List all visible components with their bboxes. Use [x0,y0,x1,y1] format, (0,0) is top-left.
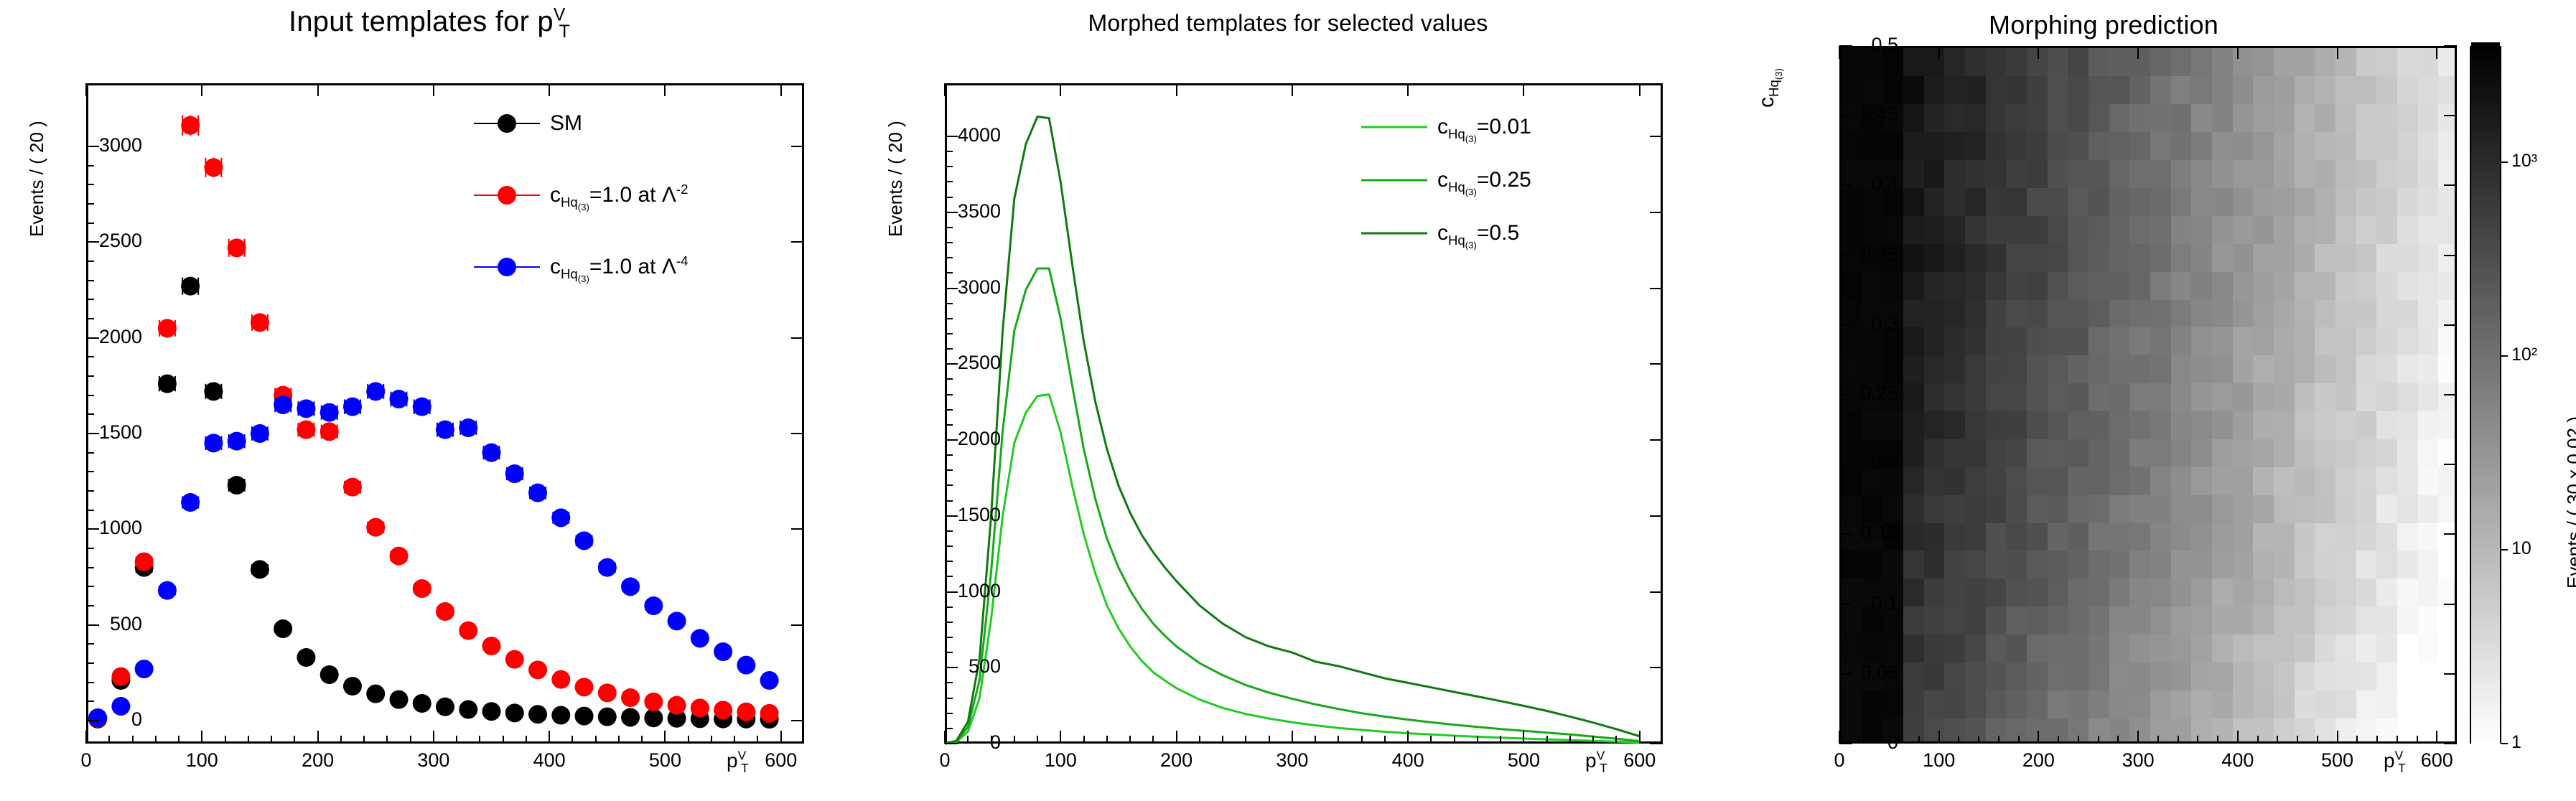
heatmap-cell [2027,299,2048,327]
colorbar-segment [2471,624,2500,630]
colorbar-tick-mark [2501,743,2508,744]
x-minor-tick [2376,736,2378,744]
heatmap-cell [2233,495,2254,523]
x-tick-mark [1292,83,1293,96]
y-tick-label: 0.1 [1798,592,1898,614]
colorbar-segment [2471,299,2500,304]
heatmap-cell [2212,104,2233,132]
x-minor-tick [526,736,527,744]
colorbar-segment [2471,509,2500,515]
heatmap-cell [2295,551,2315,578]
heatmap-cell [2356,299,2377,327]
heatmap-cell [1882,271,1903,299]
heatmap-cell [1986,690,2007,718]
heatmap-cell [1965,160,1986,188]
y-minor-tick [945,713,953,714]
heatmap-cell [1903,132,1924,160]
colorbar-segment [2471,329,2500,334]
heatmap-cell [2418,355,2439,383]
heatmap-cell [2438,355,2455,383]
colorbar-segment [2471,619,2500,625]
heatmap-cell [2295,606,2315,634]
heatmap-cell [1924,215,1945,243]
colorbar-segment [2471,243,2500,249]
heatmap-cell [1924,690,1945,718]
heatmap-cell [2315,48,2335,76]
heatmap-cell [1965,578,1986,606]
heatmap-cell [2418,467,2439,495]
heatmap-cell [2418,215,2439,243]
colorbar-segment [2471,484,2500,489]
colorbar-segment [2471,504,2500,510]
x-minor-tick [641,736,643,744]
y-minor-tick [86,222,94,224]
heatmap-cell [2315,662,2335,690]
heatmap-cell [2109,76,2130,104]
heatmap-cell [1944,662,1965,690]
y-tick-label: 1500 [900,504,1001,526]
x-tick-mark [780,731,782,744]
heatmap-cell [2233,355,2254,383]
heatmap-cell [2233,327,2254,355]
x-tick-mark [944,83,946,96]
heatmap-cell [1986,606,2007,634]
y-minor-tick [86,701,94,702]
colorbar-segment [2471,188,2500,194]
colorbar-segment [2471,554,2500,560]
x-minor-tick [456,736,457,744]
y-tick-mark [791,146,804,147]
heatmap-cell [2171,634,2192,662]
colorbar-segment [2471,434,2500,439]
colorbar-segment [2471,57,2500,63]
x-tick-mark [201,731,202,744]
y-tick-mark [791,528,804,530]
heatmap-cell [2212,606,2233,634]
x-minor-tick [132,736,134,744]
heatmap-cell [2356,187,2377,215]
x-minor-tick [1569,736,1571,744]
heatmap-cell [2418,634,2439,662]
heatmap-cell [2295,411,2315,439]
colorbar-segment [2471,158,2500,164]
legend-marker-chq3-0p01 [1361,118,1427,136]
heatmap-cell [1903,327,1924,355]
heatmap-cell [2397,634,2418,662]
panel-morphing-prediction: Morphing prediction cHq(3) 00.050.10.150… [1717,0,2576,801]
heatmap-cell [2274,606,2295,634]
panel-3-x-axis-title-sub: T [2398,761,2406,775]
heatmap-cell [2397,439,2418,467]
heatmap-cell [2376,48,2397,76]
heatmap-cell [2191,690,2212,718]
legend-item-sm[interactable]: SM [474,111,582,136]
panel-2-legend[interactable]: cHq(3)=0.01 cHq(3)=0.25 cHq(3)=0.5 [1361,115,1663,258]
heatmap-cell [2006,132,2027,160]
heatmap-cell [1924,383,1945,411]
heatmap-cell [2191,383,2212,411]
heatmap-cell [2212,439,2233,467]
colorbar-segment [2471,700,2500,706]
heatmap-cell [2356,355,2377,383]
colorbar-segment [2471,594,2500,600]
heatmap-cell [2315,439,2335,467]
heatmap-cell [2376,662,2397,690]
heatmap-cell [2027,690,2048,718]
legend-item-chq3-lambda-4[interactable]: cHq(3)=1.0 at Λ-4 [474,255,688,279]
heatmap-cell [1944,76,1965,104]
heatmap-cell [2315,187,2335,215]
heatmap-cell [2295,104,2315,132]
y-tick-label: 0.25 [1798,383,1898,405]
heatmap-cell [1924,606,1945,634]
panel-1-title: Input templates for pVT [0,6,859,38]
heatmap-cell [1924,243,1945,271]
heatmap-cell [2315,299,2335,327]
heatmap-cell [2089,495,2109,523]
heatmap-cell [2335,662,2356,690]
x-minor-tick [503,736,504,744]
colorbar-segment [2471,273,2500,279]
x-tick-mark [433,83,434,96]
heatmap-cell [2274,467,2295,495]
heatmap-cell [2233,690,2254,718]
x-tick-label: 400 [2188,749,2288,772]
heatmap-cell [2335,634,2356,662]
heatmap-cell [2438,187,2455,215]
heatmap-cell [1924,327,1945,355]
heatmap-cell [2027,578,2048,606]
colorbar-segment [2471,650,2500,655]
heatmap-cell [2376,634,2397,662]
x-minor-tick [967,736,969,744]
heatmap-cell [2048,523,2068,551]
heatmap-cell [2048,160,2068,188]
heatmap-cell [2191,467,2212,495]
heatmap-cell [2376,383,2397,411]
heatmap-cell [2068,578,2089,606]
heatmap-cell [2109,215,2130,243]
heatmap-cell [2027,132,2048,160]
x-tick-mark [664,83,666,96]
heatmap-cell [1965,48,1986,76]
x-tick-mark [1938,46,1940,59]
heatmap-cell [2027,523,2048,551]
heatmap-cell [2068,215,2089,243]
colorbar-segment [2471,168,2500,174]
heatmap-cell [2397,327,2418,355]
y-minor-tick [86,471,94,472]
heatmap-cell [1965,76,1986,104]
x-minor-tick [2217,736,2218,744]
heatmap-cell [2150,76,2171,104]
x-tick-label: 500 [615,749,715,772]
colorbar-segment [2471,519,2500,525]
heatmap-cell [2233,104,2254,132]
colorbar-tick-label: 10³ [2511,151,2537,172]
y-minor-tick [945,576,953,577]
heatmap-cell [1965,271,1986,299]
heatmap-cell [2315,634,2335,662]
colorbar-segment [2471,404,2500,410]
colorbar-segment [2471,680,2500,685]
y-minor-tick [86,510,94,511]
heatmap-cell [2376,606,2397,634]
heatmap-cell [2315,467,2335,495]
heatmap-cell [1882,495,1903,523]
heatmap-cell [2397,467,2418,495]
legend-item-chq3-0p01[interactable]: cHq(3)=0.01 [1361,115,1531,139]
heatmap-cell [2274,271,2295,299]
x-tick-label: 0 [1789,749,1890,772]
heatmap-cell [2048,271,2068,299]
heatmap-cell [2048,634,2068,662]
x-tick-mark [85,83,87,96]
heatmap-cell [2438,690,2455,718]
heatmap-cell [2233,271,2254,299]
heatmap-cell [2212,690,2233,718]
heatmap-cell [2233,523,2254,551]
x-minor-tick [1083,736,1085,744]
heatmap-cell [1924,578,1945,606]
heatmap-cell [2397,718,2418,741]
heatmap-cell [2212,299,2233,327]
heatmap-cell [2295,299,2315,327]
heatmap-cell [2376,355,2397,383]
heatmap-cell [2253,271,2274,299]
heatmap-cell [2212,662,2233,690]
colorbar-tick-label: 10² [2511,345,2537,365]
legend-item-chq3-lambda-2[interactable]: cHq(3)=1.0 at Λ-2 [474,183,688,207]
heatmap-cell [2418,383,2439,411]
x-tick-label: 200 [1126,749,1227,772]
x-minor-tick [1978,736,1979,744]
y-tick-mark [2444,533,2457,535]
x-minor-tick [1129,736,1131,744]
heatmap-cell [2089,132,2109,160]
heatmap-cell [2438,523,2455,551]
colorbar-segment [2471,660,2500,665]
heatmap-cell [2418,523,2439,551]
colorbar-segment [2471,384,2500,390]
heatmap-cell [2335,76,2356,104]
x-tick-mark [1639,731,1641,744]
colorbar-segment [2471,665,2500,670]
x-tick-label: 500 [1473,749,1574,772]
colorbar-segment [2471,263,2500,269]
heatmap-cell [2129,690,2150,718]
colorbar-segment [2471,334,2500,339]
heatmap-cell [1924,271,1945,299]
x-minor-tick [2277,736,2278,744]
heatmap-cell [1986,523,2007,551]
heatmap-cell [1986,439,2007,467]
heatmap-cell [2150,355,2171,383]
heatmap-cell [2233,634,2254,662]
y-minor-tick [86,165,94,167]
heatmap-cell [2089,606,2109,634]
heatmap-cell [2068,327,2089,355]
heatmap-cell [2356,271,2377,299]
heatmap-cell [2191,104,2212,132]
x-minor-tick [1477,736,1478,744]
heatmap-cell [2006,271,2027,299]
heatmap-cell [2295,523,2315,551]
heatmap-cell [2295,271,2315,299]
heatmap-cell [2376,718,2397,741]
heatmap-cell [2048,662,2068,690]
heatmap-cell [2129,299,2150,327]
heatmap-cell [2335,551,2356,578]
heatmap-cell [2109,104,2130,132]
heatmap-cell [1862,132,1883,160]
panel-1-legend[interactable]: SM cHq(3)=1.0 at Λ-2 cHq(3)=1.0 at Λ-4 [474,111,790,298]
heatmap-cell [2150,551,2171,578]
x-minor-tick [2356,736,2358,744]
colorbar-segment [2471,42,2500,48]
y-tick-mark [2444,255,2457,256]
colorbar-segment [2471,173,2500,179]
heatmap-cell [2089,215,2109,243]
y-tick-label: 0.15 [1798,522,1898,544]
y-tick-mark [1650,743,1663,744]
heatmap-cell [1903,104,1924,132]
heatmap-cell [1965,383,1986,411]
heatmap-cell [2376,578,2397,606]
colorbar-segment [2471,589,2500,595]
x-tick-mark [1407,83,1409,96]
heatmap-cell [2191,411,2212,439]
heatmap-cell [1965,495,1986,523]
heatmap-cell [2376,104,2397,132]
heatmap-cell [2048,495,2068,523]
heatmap-cell [2438,411,2455,439]
x-tick-mark [1060,731,1061,744]
panel-1-x-axis-title-main: p [727,749,738,772]
heatmap-cell [2048,467,2068,495]
heatmap-cell [2150,215,2171,243]
y-minor-tick [945,728,953,729]
heatmap-cell [2171,383,2192,411]
colorbar-segment [2471,304,2500,309]
heatmap-cell [1842,355,1862,383]
legend-label-chq3-lambda-2: cHq(3)=1.0 at Λ-2 [550,183,688,207]
heatmap-cell [1944,299,1965,327]
heatmap-cell [2418,551,2439,578]
heatmap-cell [2376,551,2397,578]
heatmap-cell [1944,578,1965,606]
x-tick-mark [317,731,319,744]
colorbar-segment [2471,98,2500,103]
heatmap-cell [1965,718,1986,741]
x-tick-label: 0 [36,749,136,772]
heatmap-cell [2253,299,2274,327]
x-tick-mark [2337,731,2338,744]
heatmap-cell [2068,690,2089,718]
heatmap-cell [2129,243,2150,271]
x-minor-tick [1878,736,1880,744]
legend-item-chq3-0p5[interactable]: cHq(3)=0.5 [1361,221,1519,245]
heatmap-cell [2027,243,2048,271]
heatmap-cell [2274,132,2295,160]
heatmap-cell [2356,690,2377,718]
y-tick-label: 0.35 [1798,243,1898,266]
x-minor-tick [1998,736,1999,744]
heatmap-cell [2089,104,2109,132]
colorbar-segment [2471,103,2500,108]
colorbar-tick-mark [2501,549,2508,551]
colorbar-segment [2471,614,2500,620]
heatmap-cell [2212,327,2233,355]
y-tick-mark [791,433,804,434]
heatmap-cell [2129,439,2150,467]
heatmap-cell [2109,578,2130,606]
heatmap-cell [2129,467,2150,495]
colorbar-segment [2471,83,2500,88]
heatmap-cell [2335,327,2356,355]
heatmap-cell [1965,355,1986,383]
x-minor-tick [340,736,342,744]
heatmap-cell [2006,690,2027,718]
colorbar-segment [2471,399,2500,405]
heatmap-cell [2089,411,2109,439]
heatmap-cell [2048,551,2068,578]
legend-marker-chq3-0p5 [1361,224,1427,243]
heatmap-cell [2191,243,2212,271]
heatmap-cell [2295,467,2315,495]
colorbar-segment [2471,569,2500,575]
x-minor-tick [2397,736,2398,744]
heatmap-cell [2048,243,2068,271]
heatmap-cell [2109,383,2130,411]
heatmap-cell [1924,299,1945,327]
heatmap-cell [2129,411,2150,439]
heatmap-cell [2335,187,2356,215]
heatmap-cell [2274,551,2295,578]
heatmap-cell [2129,662,2150,690]
heatmap-cell [1986,662,2007,690]
heatmap-cell [2356,104,2377,132]
colorbar-segment [2471,584,2500,590]
heatmap-cell [2109,327,2130,355]
y-tick-label: 0.4 [1798,173,1898,195]
legend-label-chq3-lambda-4: cHq(3)=1.0 at Λ-4 [550,255,688,279]
y-minor-tick [945,561,953,562]
heatmap-cell [1986,578,2007,606]
heatmap-cell [1944,160,1965,188]
colorbar-segment [2471,369,2500,375]
legend-item-chq3-0p25[interactable]: cHq(3)=0.25 [1361,168,1531,192]
colorbar-segment [2471,123,2500,128]
heatmap-cell [2253,634,2274,662]
series-line [945,395,1640,744]
heatmap-cell [2171,718,2192,741]
x-tick-label: 100 [1010,749,1111,772]
colorbar-segment [2471,118,2500,123]
x-minor-tick [2078,736,2079,744]
heatmap-cell [2253,606,2274,634]
colorbar-segment [2471,374,2500,380]
heatmap-cell [2315,578,2335,606]
colorbar-segment [2471,218,2500,224]
y-tick-label: 2500 [900,352,1001,374]
heatmap-cell [2171,48,2192,76]
heatmap-cell [2068,187,2089,215]
heatmap-cell [2089,327,2109,355]
heatmap-cell [2418,327,2439,355]
heatmap-cell [1862,551,1883,578]
heatmap-cell [2253,439,2274,467]
